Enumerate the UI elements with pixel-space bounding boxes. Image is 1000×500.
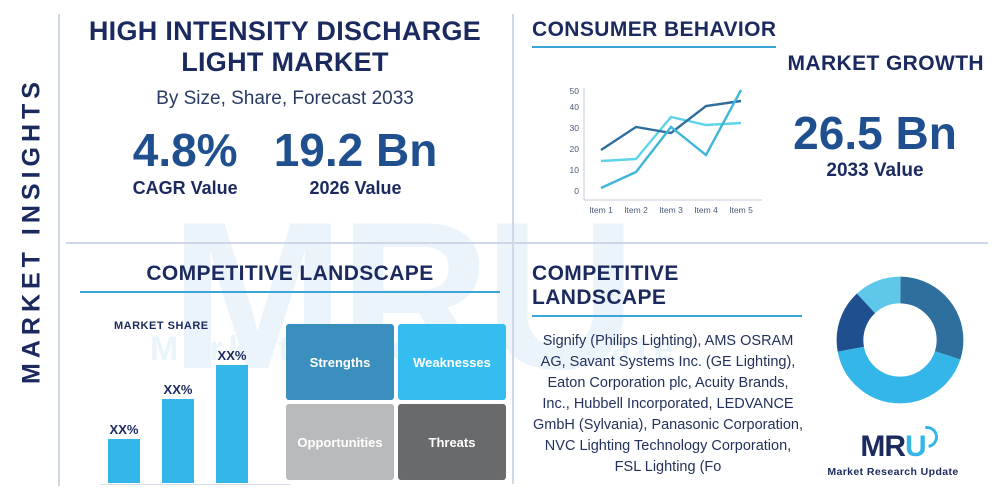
logo-name: MRU — [818, 430, 968, 464]
kpi-group: 4.8% CAGR Value 19.2 Bn 2026 Value — [70, 124, 500, 199]
infographic-sheet: MRU Market Research Update MARKET INSIGH… — [0, 0, 1000, 500]
swot-threats[interactable]: Threats — [398, 404, 506, 480]
svg-text:0: 0 — [574, 186, 579, 196]
consumer-behavior-title: CONSUMER BEHAVIOR — [532, 18, 776, 48]
line-chart-svg: 0 10 20 30 40 50 Item 1 Item 2 Item 3 It… — [550, 80, 770, 235]
market-share-label: MARKET SHARE — [114, 320, 209, 332]
bar-3: XX% — [216, 365, 248, 483]
swot-strengths[interactable]: Strengths — [286, 324, 394, 400]
left-banner-label: MARKET INSIGHTS — [18, 31, 47, 431]
value-2033-block: 26.5 Bn 2033 Value — [770, 108, 980, 182]
bar-1: XX% — [108, 439, 140, 483]
bar-2: XX% — [162, 399, 194, 483]
divider-vertical-center — [512, 14, 514, 484]
page-title: HIGH INTENSITY DISCHARGE LIGHT MARKET — [70, 16, 500, 78]
swot-weaknesses-label: Weaknesses — [413, 355, 491, 370]
competitive-landscape-right-title: COMPETITIVE LANDSCAPE — [532, 262, 802, 317]
divider-vertical-left — [58, 14, 60, 486]
left-banner: MARKET INSIGHTS — [0, 0, 60, 500]
market-growth-line-chart: 0 10 20 30 40 50 Item 1 Item 2 Item 3 It… — [550, 80, 770, 235]
kpi-cagr-label: CAGR Value — [133, 178, 238, 199]
company-list-text: Signify (Philips Lighting), AMS OSRAM AG… — [532, 331, 804, 478]
swot-strengths-label: Strengths — [310, 355, 371, 370]
swot-opportunities-label: Opportunities — [297, 435, 382, 450]
kpi-2026: 19.2 Bn 2026 Value — [274, 124, 438, 199]
logo: MRU Market Research Update — [818, 430, 968, 478]
competitive-landscape-left-title: COMPETITIVE LANDSCAPE — [80, 262, 500, 293]
competitive-landscape-left-block: COMPETITIVE LANDSCAPE MARKET SHARE XX% X… — [70, 262, 510, 293]
market-growth-label: MARKET GROWTH — [787, 52, 984, 76]
svg-text:10: 10 — [570, 165, 580, 175]
bar-baseline — [100, 484, 290, 485]
swot-weaknesses[interactable]: Weaknesses — [398, 324, 506, 400]
donut-chart — [834, 274, 966, 406]
value-2033: 26.5 Bn — [770, 108, 980, 158]
logo-tagline: Market Research Update — [818, 466, 968, 478]
bar-3-label: XX% — [218, 348, 247, 363]
swot-threats-label: Threats — [429, 435, 476, 450]
header-block: HIGH INTENSITY DISCHARGE LIGHT MARKET By… — [70, 16, 500, 199]
kpi-cagr: 4.8% CAGR Value — [133, 124, 238, 199]
kpi-cagr-value: 4.8% — [133, 124, 238, 176]
swot-opportunities[interactable]: Opportunities — [286, 404, 394, 480]
svg-text:20: 20 — [570, 144, 580, 154]
svg-text:40: 40 — [570, 102, 580, 112]
svg-text:Item 5: Item 5 — [729, 205, 753, 215]
bar-2-label: XX% — [164, 382, 193, 397]
kpi-2026-label: 2026 Value — [274, 178, 438, 199]
logo-name-main: MR — [860, 430, 905, 463]
svg-text:30: 30 — [570, 123, 580, 133]
market-share-bar-chart: XX% XX% XX% — [100, 340, 290, 485]
svg-text:Item 1: Item 1 — [589, 205, 613, 215]
value-2033-label: 2033 Value — [770, 160, 980, 182]
swot-grid: Strengths Weaknesses Opportunities Threa… — [286, 324, 510, 484]
consumer-behavior-block: CONSUMER BEHAVIOR MARKET GROWTH 0 10 20 … — [532, 18, 984, 48]
page-subtitle: By Size, Share, Forecast 2033 — [70, 88, 500, 110]
svg-text:Item 4: Item 4 — [694, 205, 718, 215]
competitive-landscape-right-block: COMPETITIVE LANDSCAPE Signify (Philips L… — [532, 262, 984, 478]
bar-1-label: XX% — [110, 422, 139, 437]
divider-horizontal — [66, 242, 988, 244]
svg-text:Item 3: Item 3 — [659, 205, 683, 215]
svg-text:Item 2: Item 2 — [624, 205, 648, 215]
donut-chart-svg — [834, 274, 966, 406]
svg-text:50: 50 — [570, 86, 580, 96]
kpi-2026-value: 19.2 Bn — [274, 124, 438, 176]
